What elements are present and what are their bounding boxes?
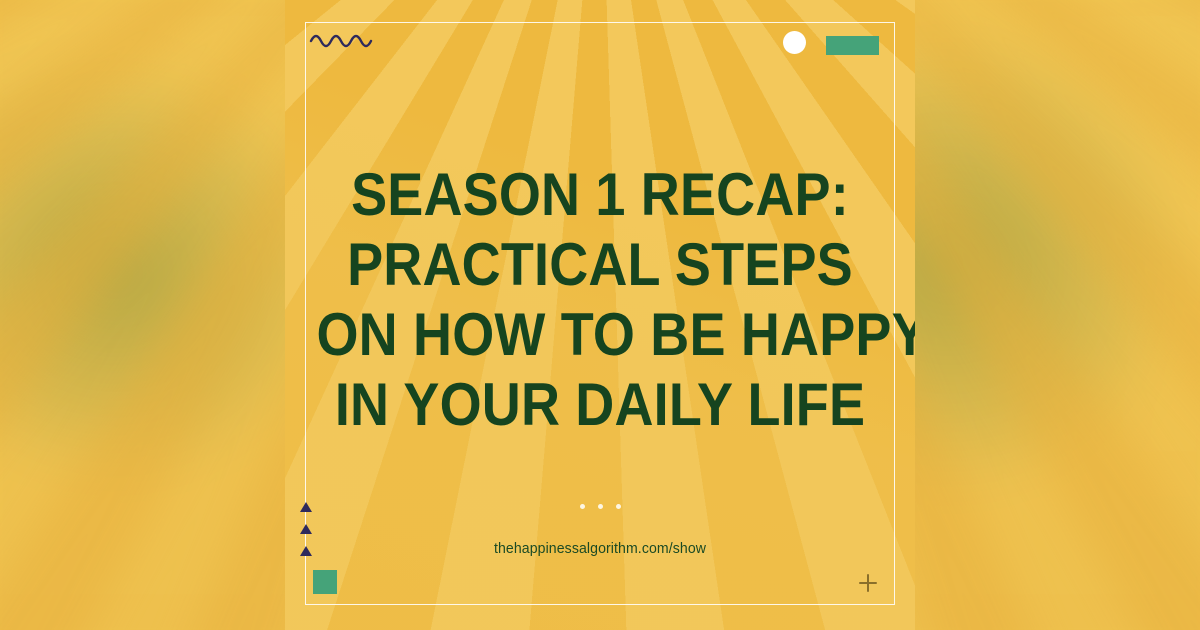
three-dots-icon [285,504,915,509]
plus-mark-icon [858,573,878,593]
title-line-4: In Your Daily Life [317,370,884,440]
title-line-2: Practical Steps [317,230,884,300]
title-line-1: Season 1 Recap: [317,160,884,230]
squiggle-icon [307,26,383,56]
poster-title: Season 1 Recap: Practical Steps On How T… [285,160,915,440]
poster-canvas: Season 1 Recap: Practical Steps On How T… [0,0,1200,630]
green-square-icon [313,570,337,594]
green-rectangle-icon [826,36,879,55]
white-circle-icon [783,31,806,54]
website-url[interactable]: thehappinessalgorithm.com/show [304,540,896,557]
poster-card: Season 1 Recap: Practical Steps On How T… [285,0,915,630]
title-line-3: On How To Be Happy [317,300,884,370]
dot-2 [598,504,603,509]
dot-1 [580,504,585,509]
dot-3 [616,504,621,509]
triangle-stack-icon [299,500,321,562]
